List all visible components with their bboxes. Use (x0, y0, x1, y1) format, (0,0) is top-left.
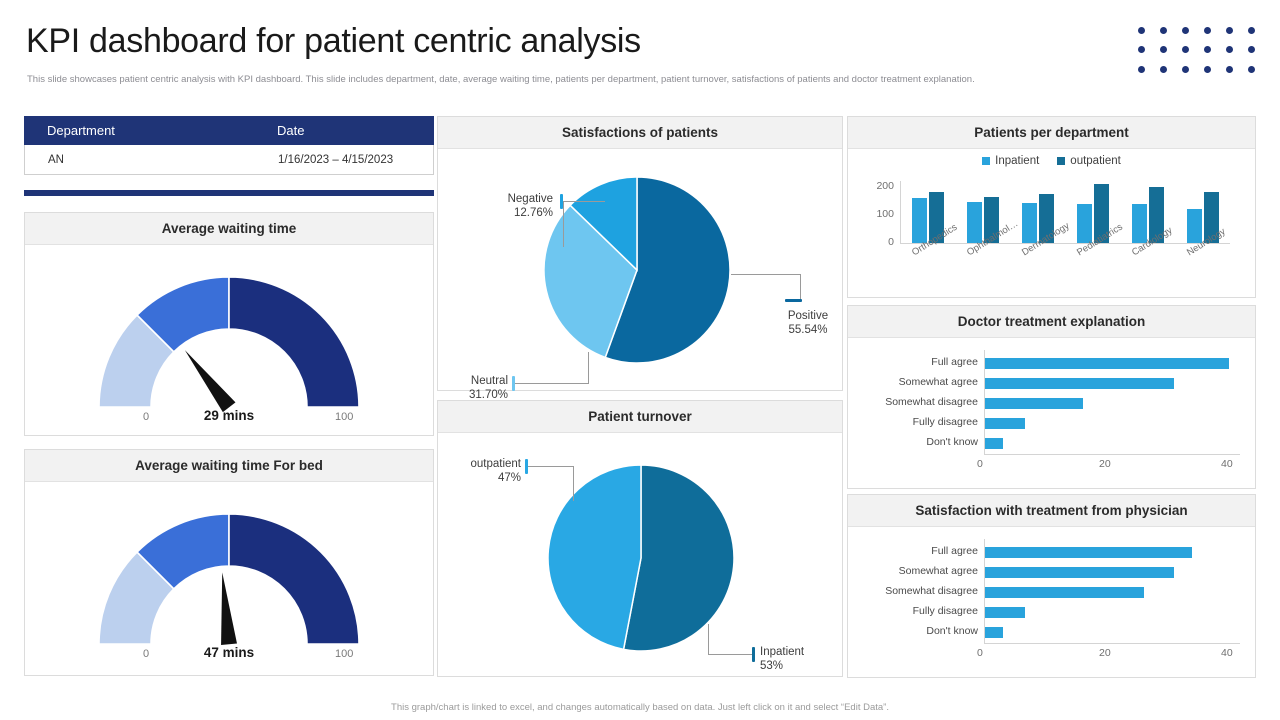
cell-date: 1/16/2023 – 4/15/2023 (220, 154, 433, 166)
dot-grid-decoration (1130, 21, 1262, 79)
pie-label-negative-value: 12.76% (458, 206, 553, 220)
leader-line-inpatient-h (708, 654, 753, 655)
bar-full-agree (985, 358, 1229, 369)
card-title: Average waiting time For bed (135, 458, 323, 473)
bar-don-t-know (985, 438, 1003, 449)
category-label: Don't know (852, 436, 978, 448)
leader-line-positive-h (731, 274, 801, 275)
leader-line-inpatient (708, 624, 709, 655)
category-label: Somewhat disagree (852, 585, 978, 597)
bar-chart-patients-per-department: Inpatient outpatient 0100200OrthopedicsO… (848, 149, 1255, 299)
bar-inpatient (1022, 203, 1037, 243)
dot (1182, 46, 1189, 53)
card-header: Average waiting time For bed (25, 450, 433, 482)
dot (1138, 46, 1145, 53)
column-header-department: Department (24, 123, 219, 138)
pie-graphic (548, 465, 734, 656)
dot (1204, 66, 1211, 73)
leader-line-neutral-h (515, 383, 588, 384)
bar-inpatient (1077, 204, 1092, 243)
y-axis-tick: 200 (868, 180, 894, 192)
hbar-chart-doctor-treatment: Full agreeSomewhat agreeSomewhat disagre… (848, 338, 1255, 490)
legend-swatch-negative (560, 194, 563, 209)
legend-swatch-neutral (512, 376, 515, 391)
bar-inpatient (1132, 204, 1147, 243)
leader-line-negative (563, 201, 564, 247)
gauge-graphic (89, 496, 369, 661)
x-axis-tick: 0 (977, 647, 983, 659)
section-divider-bar (24, 190, 434, 196)
pie-label-inpatient-value: 53% (760, 659, 850, 673)
pie-label-positive: Positive 55.54% (768, 309, 848, 337)
legend-swatch-inpatient (752, 647, 755, 662)
card-header: Patients per department (848, 117, 1255, 149)
gauge-graphic (89, 259, 369, 424)
leader-line-outpatient-h (528, 466, 574, 467)
leader-line-negative-h (563, 201, 605, 202)
category-label: Somewhat agree (852, 565, 978, 577)
hbar-plot-area: Full agreeSomewhat agreeSomewhat disagre… (848, 338, 1255, 490)
hbar-plot-area: Full agreeSomewhat agreeSomewhat disagre… (848, 527, 1255, 679)
x-axis-tick: 20 (1099, 458, 1111, 470)
dot (1204, 27, 1211, 34)
dot (1226, 66, 1233, 73)
pie-chart-satisfactions: Negative 12.76% Neutral 31.70% Positive … (438, 149, 842, 391)
pie-label-outpatient-value: 47% (433, 471, 521, 485)
bar-don-t-know (985, 627, 1003, 638)
pie-label-neutral: Neutral 31.70% (426, 374, 508, 402)
card-header: Patient turnover (438, 401, 842, 433)
bar-inpatient (912, 198, 927, 243)
x-axis-line (984, 454, 1240, 455)
bar-fully-disagree (985, 607, 1025, 618)
leader-line-neutral (588, 352, 589, 384)
leader-line-outpatient (573, 466, 574, 501)
legend-swatch-positive (785, 299, 802, 302)
bar-plot-area: 0100200OrthopedicsOphthalmol…Dermatology… (848, 149, 1255, 299)
card-header: Doctor treatment explanation (848, 306, 1255, 338)
pie-chart-patient-turnover: outpatient 47% Inpatient 53% (438, 433, 842, 677)
card-title: Satisfaction with treatment from physici… (915, 503, 1187, 518)
bar-somewhat-disagree (985, 398, 1083, 409)
pie-label-outpatient-text: outpatient (433, 457, 521, 471)
card-title: Average waiting time (162, 221, 297, 236)
x-axis-line (984, 643, 1240, 644)
cell-department: AN (25, 154, 220, 166)
category-label: Full agree (852, 356, 978, 368)
card-title: Patients per department (974, 125, 1129, 140)
table-header-row: Department Date (24, 116, 434, 145)
card-header: Average waiting time (25, 213, 433, 245)
page-title: KPI dashboard for patient centric analys… (26, 22, 641, 61)
category-label: Fully disagree (852, 605, 978, 617)
bar-somewhat-disagree (985, 587, 1144, 598)
bar-fully-disagree (985, 418, 1025, 429)
pie-label-neutral-text: Neutral (426, 374, 508, 388)
footer-note: This graph/chart is linked to excel, and… (0, 702, 1280, 713)
dot (1160, 27, 1167, 34)
x-axis-line (900, 243, 1230, 244)
y-axis-tick: 100 (868, 208, 894, 220)
pie-label-negative-text: Negative (458, 192, 553, 206)
bar-somewhat-agree (985, 567, 1174, 578)
gauge-chart-average-waiting-time: 0 100 29 mins (25, 245, 433, 436)
x-axis-tick: 40 (1221, 458, 1233, 470)
department-date-table: Department Date AN 1/16/2023 – 4/15/2023 (24, 116, 434, 177)
dot (1182, 27, 1189, 34)
average-waiting-time-card: Average waiting time 0 100 29 mins (24, 212, 434, 436)
x-axis-tick: 40 (1221, 647, 1233, 659)
patients-per-department-card: Patients per department Inpatient outpat… (847, 116, 1256, 298)
pie-label-negative: Negative 12.76% (458, 192, 553, 220)
gauge-value-label: 47 mins (25, 645, 433, 660)
dot (1248, 27, 1255, 34)
dot (1204, 46, 1211, 53)
x-axis-tick: 20 (1099, 647, 1111, 659)
gauge-chart-average-waiting-time-for-bed: 0 100 47 mins (25, 482, 433, 676)
page-subtitle: This slide showcases patient centric ana… (27, 73, 1127, 86)
pie-label-inpatient: Inpatient 53% (760, 645, 850, 673)
x-axis-tick: 0 (977, 458, 983, 470)
gauge-value-label: 29 mins (25, 408, 433, 423)
card-header: Satisfactions of patients (438, 117, 842, 149)
bar-inpatient (1187, 209, 1202, 243)
hbar-chart-satisfaction-physician: Full agreeSomewhat agreeSomewhat disagre… (848, 527, 1255, 679)
doctor-treatment-explanation-card: Doctor treatment explanation Full agreeS… (847, 305, 1256, 489)
dot (1138, 27, 1145, 34)
dot (1226, 27, 1233, 34)
category-label: Full agree (852, 545, 978, 557)
column-header-date: Date (219, 123, 434, 138)
pie-graphic (544, 177, 730, 368)
category-label: Don't know (852, 625, 978, 637)
leader-line-positive (800, 274, 801, 302)
category-label: Fully disagree (852, 416, 978, 428)
pie-label-inpatient-text: Inpatient (760, 645, 850, 659)
patient-turnover-card: Patient turnover outpatient 47% Inpatien… (437, 400, 843, 677)
card-title: Patient turnover (588, 409, 692, 424)
satisfactions-of-patients-card: Satisfactions of patients Negative 12.76… (437, 116, 843, 391)
bar-inpatient (967, 202, 982, 243)
dot (1160, 46, 1167, 53)
y-axis-tick: 0 (868, 236, 894, 248)
category-label: Somewhat disagree (852, 396, 978, 408)
pie-label-positive-value: 55.54% (768, 323, 848, 337)
legend-swatch-outpatient (525, 459, 528, 474)
dot (1182, 66, 1189, 73)
pie-label-positive-text: Positive (768, 309, 848, 323)
bar-full-agree (985, 547, 1192, 558)
pie-label-outpatient: outpatient 47% (433, 457, 521, 485)
average-waiting-time-for-bed-card: Average waiting time For bed 0 100 47 mi… (24, 449, 434, 676)
satisfaction-with-treatment-card: Satisfaction with treatment from physici… (847, 494, 1256, 678)
dot (1248, 66, 1255, 73)
dot (1248, 46, 1255, 53)
card-header: Satisfaction with treatment from physici… (848, 495, 1255, 527)
card-title: Satisfactions of patients (562, 125, 718, 140)
bar-somewhat-agree (985, 378, 1174, 389)
category-label: Somewhat agree (852, 376, 978, 388)
y-axis-line (900, 181, 901, 243)
card-title: Doctor treatment explanation (958, 314, 1146, 329)
dot (1138, 66, 1145, 73)
table-row: AN 1/16/2023 – 4/15/2023 (24, 145, 434, 175)
dot (1226, 46, 1233, 53)
dot (1160, 66, 1167, 73)
